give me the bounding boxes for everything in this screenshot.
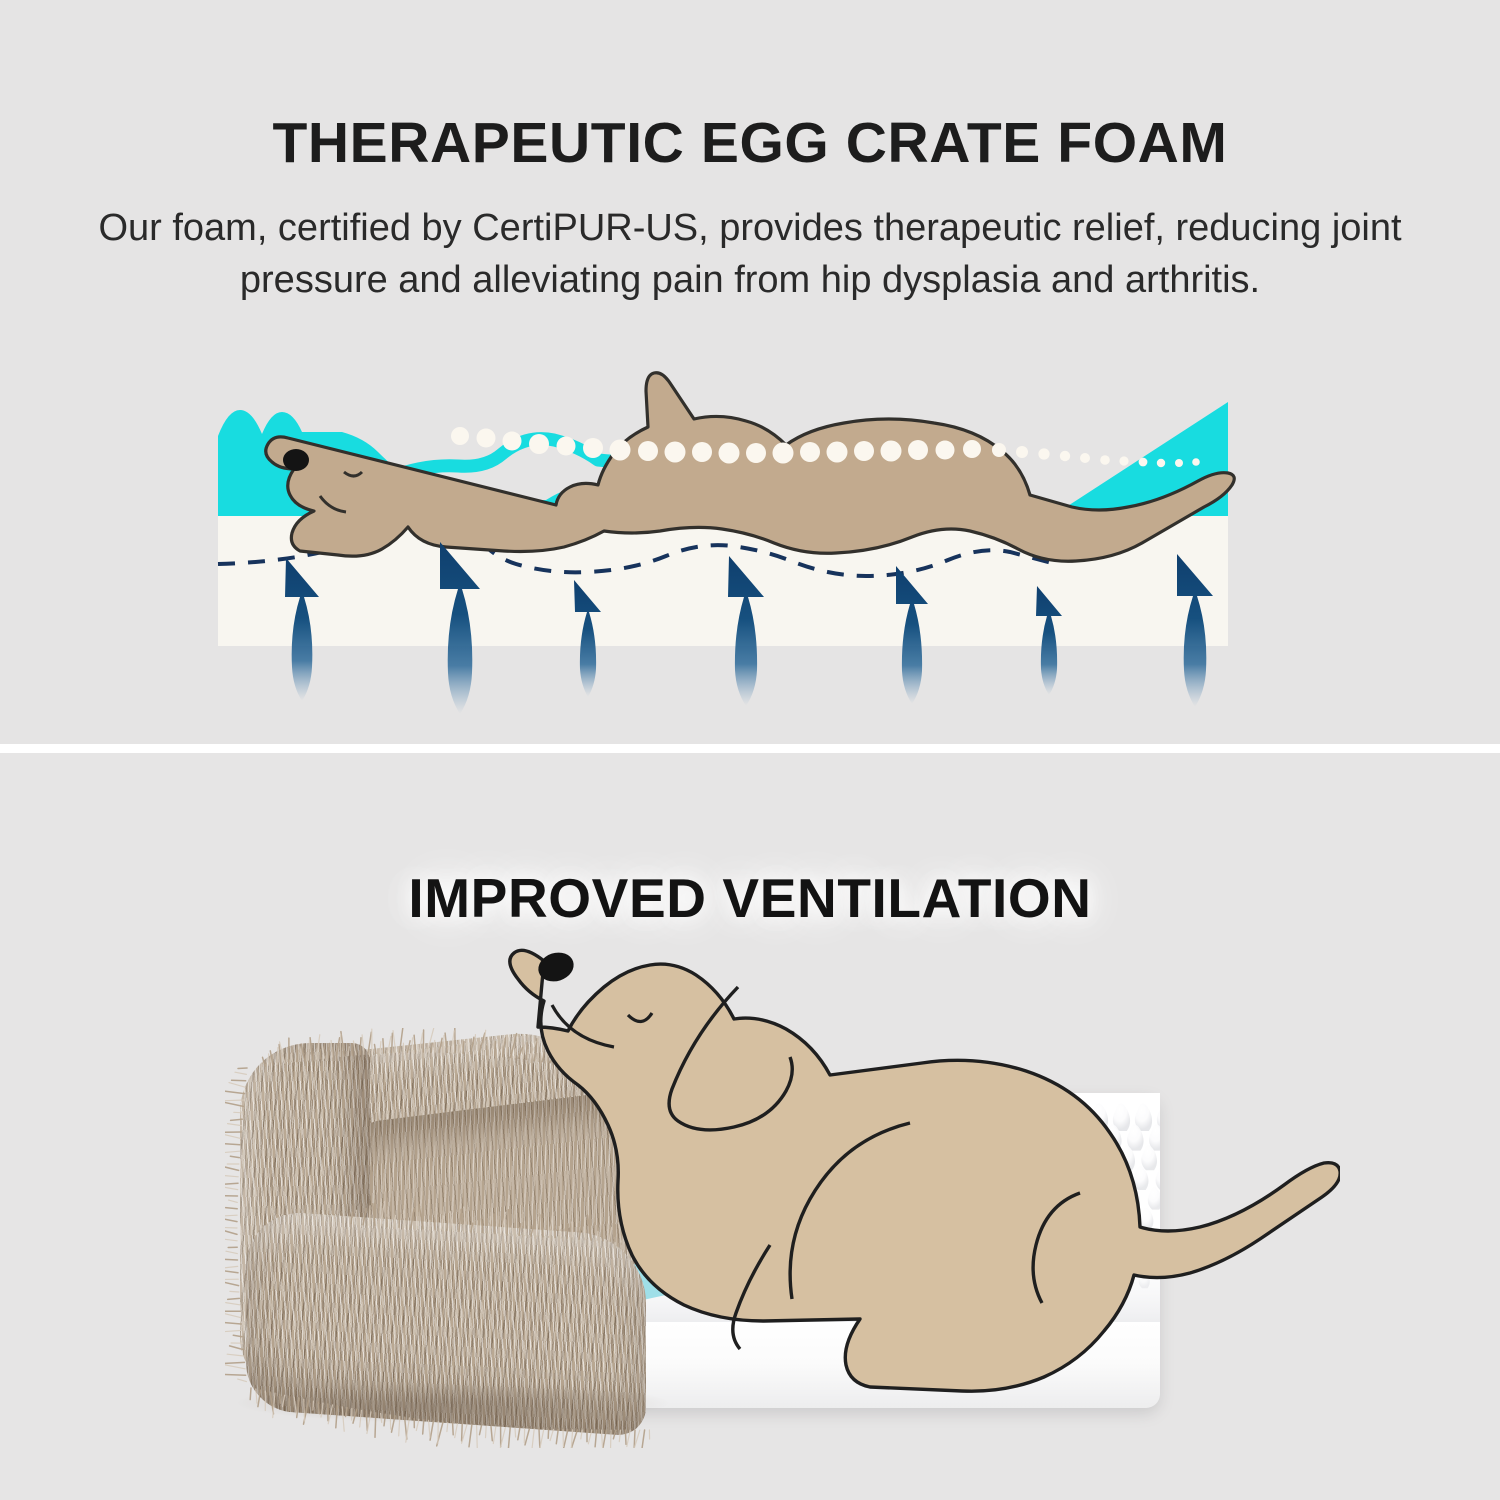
foam-cross-section-diagram [0, 320, 1500, 720]
page-title-therapeutic-foam: THERAPEUTIC EGG CRATE FOAM [0, 110, 1500, 176]
panel-divider [0, 744, 1500, 753]
dog-illustration-reclining [440, 893, 1340, 1433]
dog-nose [283, 449, 309, 471]
infographic-page: THERAPEUTIC EGG CRATE FOAM Our foam, cer… [0, 0, 1500, 1500]
panel-improved-ventilation: IMPROVED VENTILATION [0, 753, 1500, 1500]
subcopy-therapeutic-foam: Our foam, certified by CertiPUR-US, prov… [60, 202, 1440, 306]
panel-therapeutic-foam: THERAPEUTIC EGG CRATE FOAM Our foam, cer… [0, 0, 1500, 744]
dog-bed-ventilation-scene: CONTAINS CERTIFIED FLEXIBLE POLYURETHANE… [0, 753, 1500, 1500]
